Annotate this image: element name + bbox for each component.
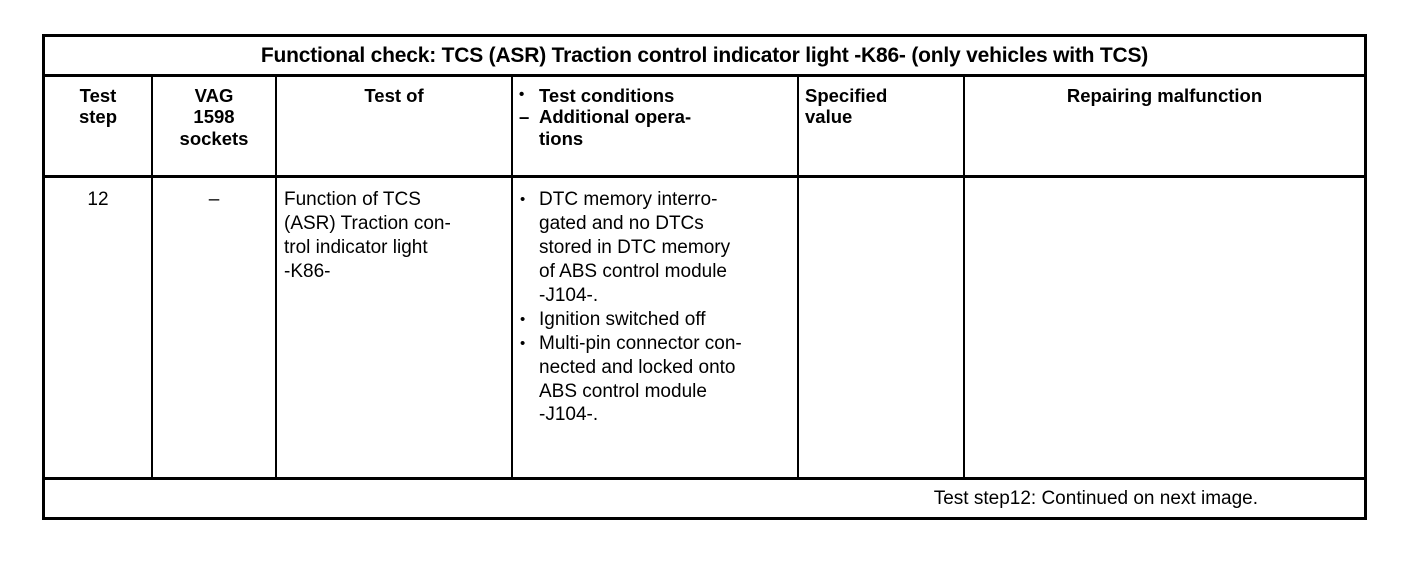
bullet-icon: •	[519, 85, 539, 106]
cell-test-step: 12	[45, 178, 153, 477]
column-header-test-of: Test of	[277, 77, 513, 175]
column-header-vag-sockets-line3: sockets	[159, 128, 269, 149]
column-header-specified-value: Specified value	[799, 77, 965, 175]
dash-icon: –	[519, 106, 539, 127]
list-item-line: -J104-.	[539, 284, 790, 308]
column-header-test-conditions-line1: Test conditions	[539, 85, 791, 106]
table-footer-row: Test step12: Continued on next image.	[45, 480, 1364, 517]
column-header-repairing-malfunction-line1: Repairing malfunction	[971, 85, 1358, 106]
cell-test-of-line: Function of TCS	[284, 188, 504, 212]
column-header-test-step: Test step	[45, 77, 153, 175]
test-conditions-list: • DTC memory interro- gated and no DTCs …	[520, 188, 790, 427]
column-header-test-conditions-cont-line: tions	[519, 128, 791, 149]
list-item-line: ABS control module	[539, 380, 790, 404]
list-item-line: gated and no DTCs	[539, 212, 790, 236]
cell-test-of-line: trol indicator light	[284, 236, 504, 260]
cell-test-of-line: -K86-	[284, 260, 504, 284]
list-item: • Ignition switched off	[520, 308, 790, 332]
list-item-text: Ignition switched off	[539, 308, 790, 332]
continuation-note: Test step12: Continued on next image.	[934, 488, 1258, 510]
table-header-row: Test step VAG 1598 sockets Test of • Tes…	[45, 77, 1364, 178]
list-item-line: stored in DTC memory	[539, 236, 790, 260]
list-item: • DTC memory interro- gated and no DTCs …	[520, 188, 790, 308]
column-header-test-step-line2: step	[51, 106, 145, 127]
cell-repairing-malfunction	[965, 178, 1364, 477]
column-header-vag-sockets-line1: VAG	[159, 85, 269, 106]
bullet-icon: •	[520, 332, 539, 355]
list-item-line: Ignition switched off	[539, 308, 790, 332]
cell-vag-sockets: –	[153, 178, 277, 477]
cell-test-of: Function of TCS (ASR) Traction con- trol…	[277, 178, 513, 477]
cell-specified-value	[799, 178, 965, 477]
column-header-test-conditions: • Test conditions – Additional opera- ti…	[513, 77, 799, 175]
functional-check-table: Functional check: TCS (ASR) Traction con…	[42, 34, 1367, 520]
bullet-icon: •	[520, 188, 539, 211]
column-header-test-conditions-bullet-line: • Test conditions	[519, 85, 791, 106]
column-header-test-conditions-dash-line: – Additional opera-	[519, 106, 791, 127]
column-header-repairing-malfunction: Repairing malfunction	[965, 77, 1364, 175]
column-header-test-conditions-line2: Additional opera-	[539, 106, 791, 127]
table-title-row: Functional check: TCS (ASR) Traction con…	[45, 37, 1364, 77]
list-item: • Multi-pin connector con- nected and lo…	[520, 332, 790, 428]
list-item-text: DTC memory interro- gated and no DTCs st…	[539, 188, 790, 308]
column-header-test-step-line1: Test	[51, 85, 145, 106]
table-row: 12 – Function of TCS (ASR) Traction con-…	[45, 178, 1364, 480]
list-item-text: Multi-pin connector con- nected and lock…	[539, 332, 790, 428]
cell-test-of-line: (ASR) Traction con-	[284, 212, 504, 236]
table-title: Functional check: TCS (ASR) Traction con…	[261, 44, 1148, 68]
cell-test-conditions: • DTC memory interro- gated and no DTCs …	[513, 178, 799, 477]
list-item-line: nected and locked onto	[539, 356, 790, 380]
list-item-line: Multi-pin connector con-	[539, 332, 790, 356]
column-header-vag-sockets: VAG 1598 sockets	[153, 77, 277, 175]
column-header-specified-value-line1: Specified	[805, 85, 957, 106]
column-header-vag-sockets-line2: 1598	[159, 106, 269, 127]
column-header-test-of-line1: Test of	[283, 85, 505, 106]
list-item-line: -J104-.	[539, 403, 790, 427]
column-header-test-conditions-line3: tions	[539, 128, 791, 149]
list-item-line: DTC memory interro-	[539, 188, 790, 212]
bullet-icon: •	[520, 308, 539, 331]
list-item-line: of ABS control module	[539, 260, 790, 284]
column-header-specified-value-line2: value	[805, 106, 957, 127]
